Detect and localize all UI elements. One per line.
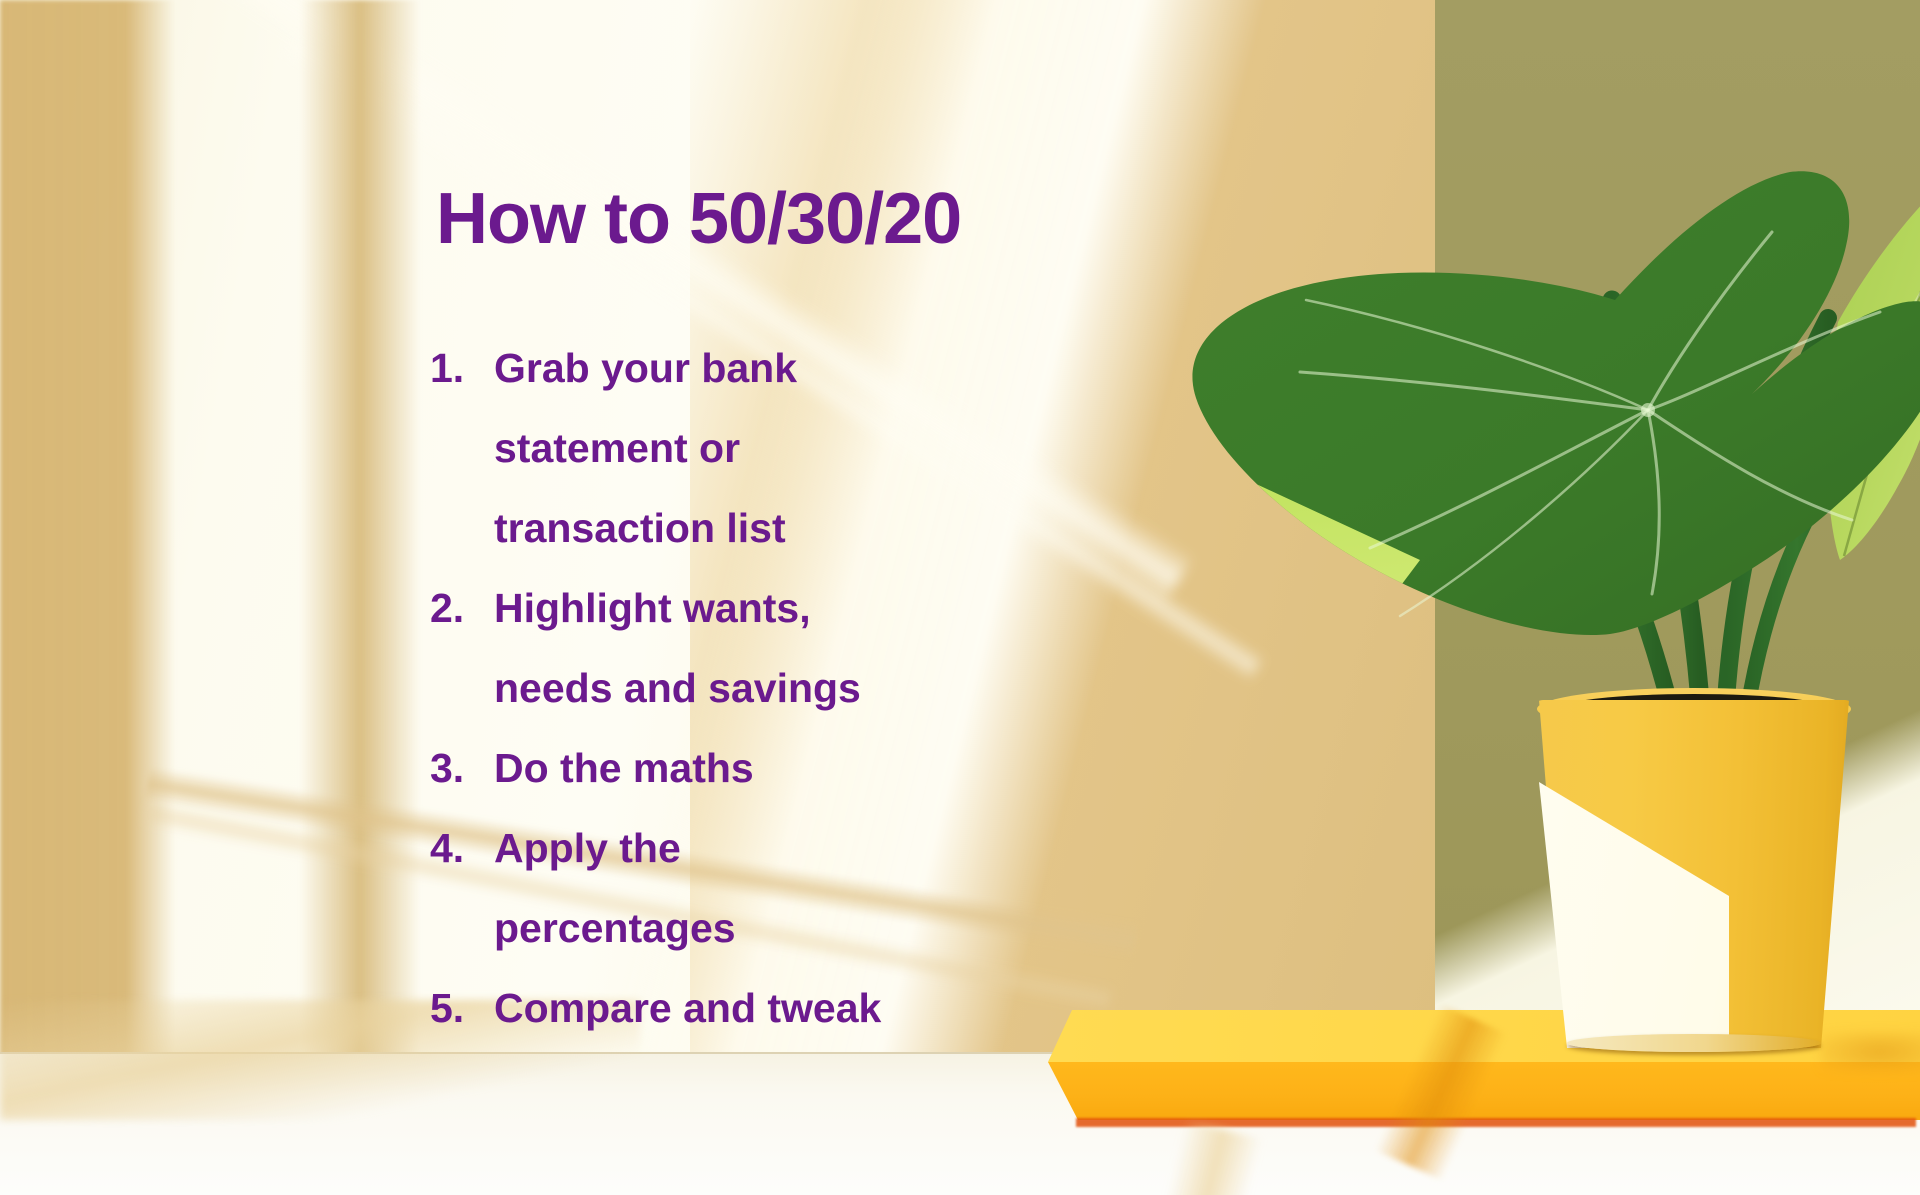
list-item: 3. Do the maths: [430, 728, 1130, 808]
list-item-label: Compare and tweak: [494, 968, 924, 1048]
list-item-number: 3.: [430, 728, 494, 808]
list-item-number: 1.: [430, 328, 494, 408]
steps-list: 1. Grab your bank statement or transacti…: [430, 328, 1130, 1048]
list-item: 2. Highlight wants, needs and savings: [430, 568, 1130, 728]
slide-canvas: How to 50/30/20 1. Grab your bank statem…: [0, 0, 1920, 1195]
page-title: How to 50/30/20: [436, 178, 961, 260]
list-item-number: 5.: [430, 968, 494, 1048]
list-item-number: 4.: [430, 808, 494, 888]
slide-content: How to 50/30/20 1. Grab your bank statem…: [0, 0, 1920, 1195]
list-item-label: Do the maths: [494, 728, 924, 808]
list-item-label: Grab your bank statement or transaction …: [494, 328, 924, 568]
list-item: 1. Grab your bank statement or transacti…: [430, 328, 1130, 568]
list-item-number: 2.: [430, 568, 494, 648]
list-item: 4. Apply the percentages: [430, 808, 1130, 968]
list-item-label: Highlight wants, needs and savings: [494, 568, 924, 728]
list-item: 5. Compare and tweak: [430, 968, 1130, 1048]
list-item-label: Apply the percentages: [494, 808, 924, 968]
